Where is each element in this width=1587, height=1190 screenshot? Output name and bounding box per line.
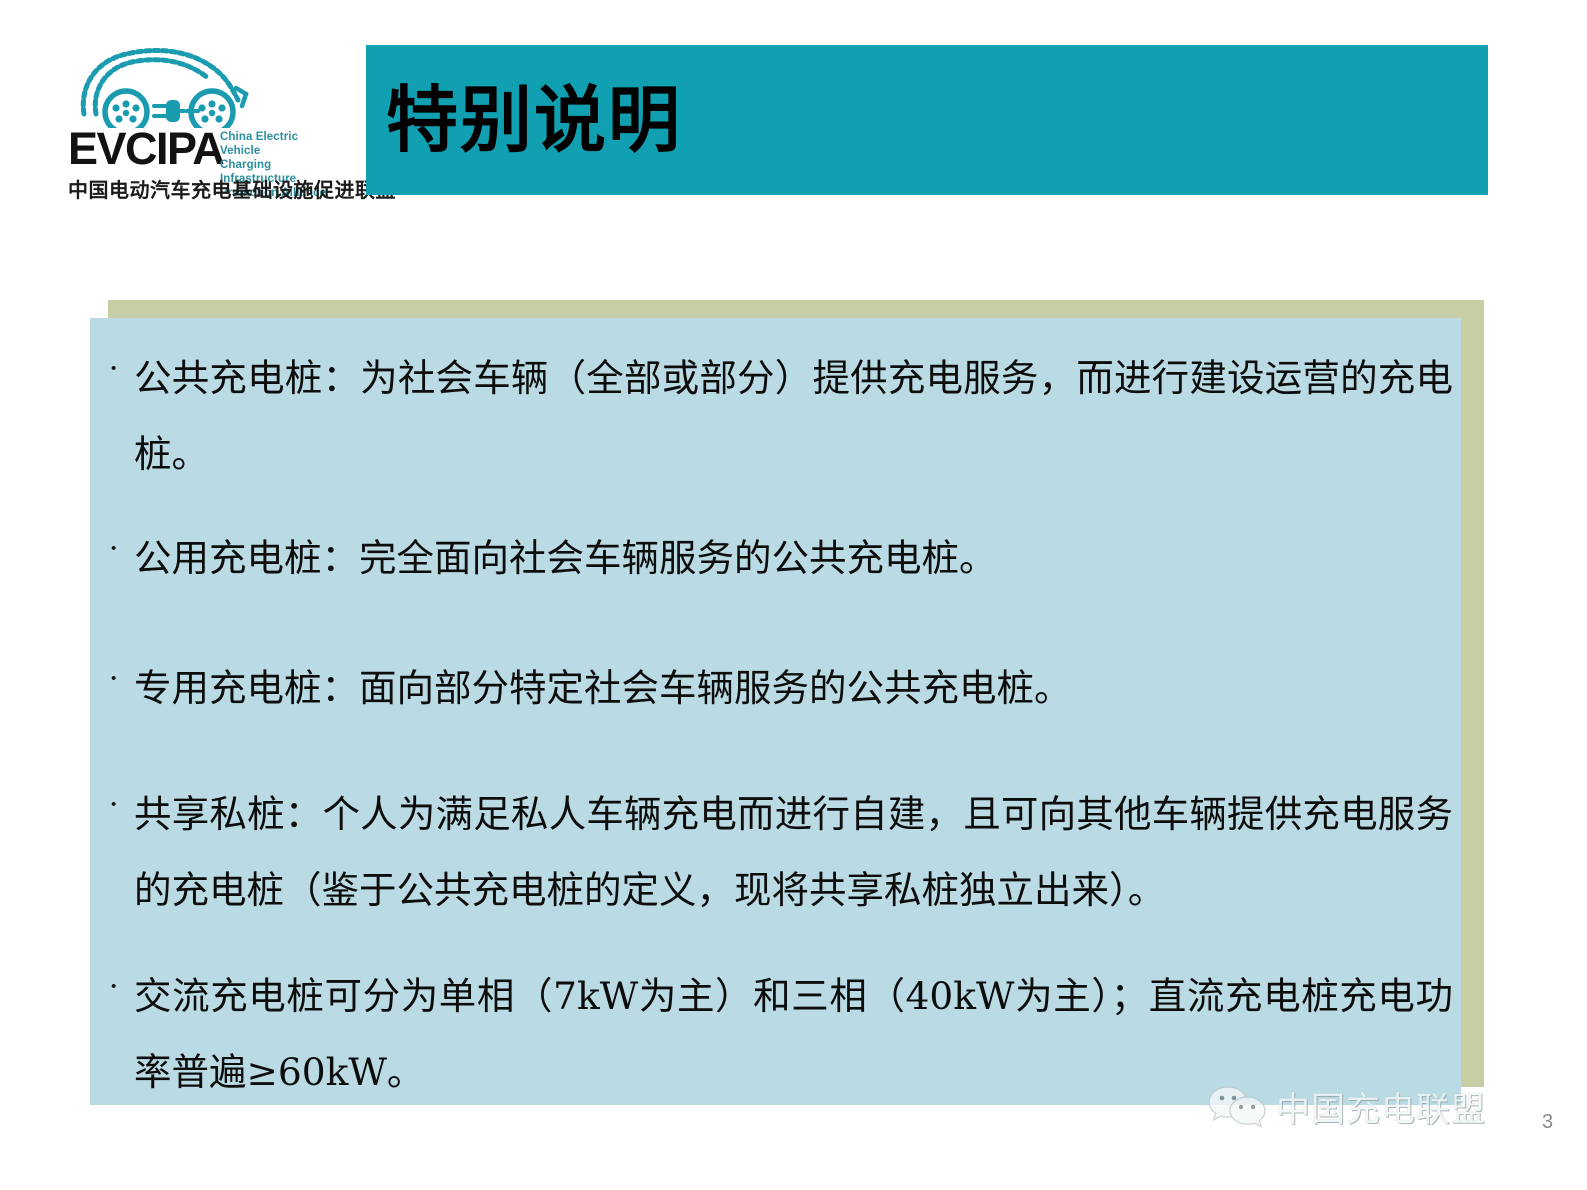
- title-banner: 特别说明: [366, 45, 1488, 195]
- logo-tagline-line1: China Electric Vehicle: [220, 130, 334, 158]
- bullet-marker-icon: ·: [108, 958, 134, 1016]
- bullet-item-shared-public-charging-pile: · 公用充电桩：完全面向社会车辆服务的公共充电桩。: [108, 520, 1453, 596]
- bullet-item-shared-private-pile: · 共享私桩：个人为满足私人车辆充电而进行自建，且可向其他车辆提供充电服务的充电…: [108, 776, 1453, 928]
- page-number: 3: [1542, 1111, 1553, 1134]
- wechat-icon: [1208, 1085, 1266, 1134]
- bullet-item-public-charging-pile: · 公共充电桩：为社会车辆（全部或部分）提供充电服务，而进行建设运营的充电桩。: [108, 340, 1453, 492]
- bullet-marker-icon: ·: [108, 520, 134, 578]
- bullet-marker-icon: ·: [108, 340, 134, 398]
- evcipa-logo: EVCIPA China Electric Vehicle Charging I…: [62, 42, 334, 194]
- bullet-text: 专用充电桩：面向部分特定社会车辆服务的公共充电桩。: [134, 650, 1453, 726]
- page-title: 特别说明: [386, 80, 682, 160]
- logo-wordmark: EVCIPA: [68, 126, 223, 171]
- bullet-item-dedicated-charging-pile: · 专用充电桩：面向部分特定社会车辆服务的公共充电桩。: [108, 650, 1453, 726]
- bullet-text: 公用充电桩：完全面向社会车辆服务的公共充电桩。: [134, 520, 1453, 596]
- bullet-marker-icon: ·: [108, 776, 134, 834]
- wechat-watermark: 中国充电联盟: [1208, 1085, 1486, 1134]
- slide-canvas: EVCIPA China Electric Vehicle Charging I…: [0, 0, 1587, 1190]
- watermark-text: 中国充电联盟: [1276, 1091, 1486, 1129]
- content-box: · 公共充电桩：为社会车辆（全部或部分）提供充电服务，而进行建设运营的充电桩。 …: [90, 318, 1461, 1105]
- bullet-text: 共享私桩：个人为满足私人车辆充电而进行自建，且可向其他车辆提供充电服务的充电桩（…: [134, 776, 1453, 928]
- evcipa-car-charging-logo-icon: [70, 42, 260, 128]
- bullet-marker-icon: ·: [108, 650, 134, 708]
- bullet-text: 公共充电桩：为社会车辆（全部或部分）提供充电服务，而进行建设运营的充电桩。: [134, 340, 1453, 492]
- logo-chinese-name: 中国电动汽车充电基础设施促进联盟: [68, 174, 396, 203]
